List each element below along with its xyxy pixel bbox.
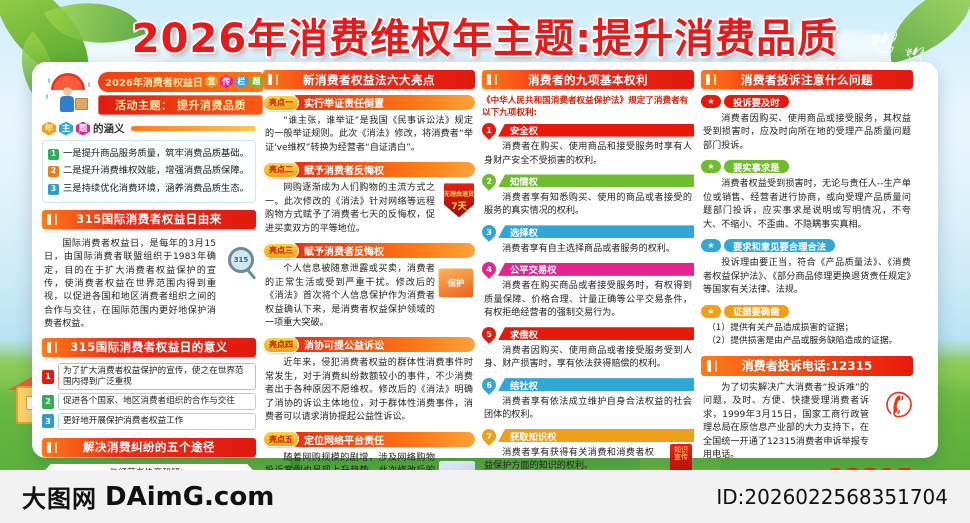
hotline-header: 消费者投诉电话:12315 bbox=[701, 356, 913, 376]
theme-meaning-heading: 年 主 题 的涵义 bbox=[42, 121, 256, 136]
highlight-badge: 亮点四 bbox=[263, 337, 299, 353]
right-heading: 4 公平交易权 bbox=[482, 262, 694, 276]
complaint-body: 消费者因购买、使用商品或接受服务，其权益受到损害时，应及时向所在地的受理产品质量… bbox=[701, 110, 913, 155]
right-heading: 6 结社权 bbox=[482, 378, 694, 392]
highlight-badge: 亮点一 bbox=[263, 95, 299, 111]
highlight-badge: 亮点五 bbox=[263, 431, 299, 447]
origin-paragraph: 国际消费者权益日，是每年的3月15日，由国际消费者联盟组织于1983年确定，目的… bbox=[42, 235, 256, 334]
umbrella-shopper-illustration bbox=[42, 70, 94, 116]
banner-prefix-text: 2026年消费者权益日 bbox=[105, 74, 203, 89]
page-title: 2026年消费维权年主题:提升消费品质 bbox=[132, 6, 838, 64]
route-item: 与经营者协商和解； bbox=[44, 463, 254, 470]
right-number: 6 bbox=[479, 375, 499, 395]
right-name: 知情权 bbox=[498, 174, 694, 187]
right-body: 消费者在购买商品或者接受服务时，有权得到质量保障、价格合理、计量正确等公平交易条… bbox=[482, 277, 694, 322]
section-header-origin: 315国际消费者权益日由来 bbox=[42, 210, 256, 229]
banner-line-two: 活动主题： 提升消费品质 bbox=[98, 95, 263, 115]
list-item: 2 促进各个国家、地区消费者组织的合作与交往 bbox=[42, 393, 256, 410]
right-number: 2 bbox=[479, 171, 499, 191]
site-brand: 大图网 DAimG.com bbox=[22, 479, 274, 514]
law-note: 《中华人民共和国消费者权益保护法》规定了消费者有以下九项权利: bbox=[482, 95, 694, 119]
list-item: 2 二是提升消费维权效能，增强消费品质保障。 bbox=[47, 163, 251, 181]
item-number: 3 bbox=[42, 414, 54, 428]
gem-icon: 题 bbox=[76, 122, 90, 136]
right-body: 消费者享有依法成立维护自身合法权益的社会团体的权利。 bbox=[482, 393, 694, 425]
right-body: 消费者享有获得有关消费和消费者权益保护方面的知识的权利。 bbox=[482, 444, 694, 471]
item-text: 三是持续优化消费环境，涵养消费品质生态。 bbox=[63, 183, 249, 196]
star-icon: ★ bbox=[701, 239, 721, 252]
gem-icon: 传 bbox=[220, 75, 233, 88]
highlight-heading: 亮点五 定位网络平台责任 bbox=[263, 432, 475, 447]
right-name: 获取知识权 bbox=[498, 429, 694, 442]
evidence-list: （1）提供有关产品造成损害的证据； （2）提供损害是由产品或服务缺陷造成的证据。 bbox=[701, 320, 913, 350]
right-name: 求偿权 bbox=[498, 327, 694, 340]
poster-canvas: 🕊 🕊 2026年消费维权年主题:提升消费品质 bbox=[0, 0, 970, 470]
item-number: 3 bbox=[48, 184, 59, 195]
meaning-list: 1 为了扩大消费者权益保护的宣传，使之在世界范围内得到广泛重视 2 促进各个国家… bbox=[42, 363, 256, 430]
highlight-heading: 亮点一 实行举证责任倒置 bbox=[263, 95, 475, 110]
complaint-heading: ★ 投诉要及时 bbox=[701, 95, 913, 108]
item-number: 2 bbox=[48, 166, 59, 177]
highlight-title: 定位网络平台责任 bbox=[290, 432, 475, 447]
complaint-title: 证据要确凿 bbox=[724, 305, 789, 318]
item-number: 2 bbox=[42, 395, 54, 409]
brand-name-cn: 大图网 bbox=[22, 479, 97, 514]
right-number: 3 bbox=[479, 222, 499, 242]
highlight-title: 实行举证责任倒置 bbox=[290, 95, 475, 110]
item-text: 更好地开展保护消费者权益工作 bbox=[58, 413, 256, 430]
item-text: 促进各个国家、地区消费者组织的合作与交往 bbox=[58, 393, 256, 410]
highlight-badge: 亮点二 bbox=[263, 162, 299, 178]
right-heading: 1 安全权 bbox=[482, 123, 694, 137]
asset-id-label: ID:2026022568351704 bbox=[716, 485, 948, 509]
right-number: 1 bbox=[479, 120, 499, 140]
section-header-meaning: 315国际消费者权益日的意义 bbox=[42, 338, 256, 357]
poster-title-area: 2026年消费维权年主题:提升消费品质 bbox=[0, 6, 970, 64]
section-header-complaints: 消费者投诉注意什么问题 bbox=[701, 70, 913, 89]
right-heading: 7 获取知识权 bbox=[482, 429, 694, 443]
right-body: 消费者在购买、使用商品和接受服务时享有人身财产安全不受损害的权利。 bbox=[482, 138, 694, 170]
item-number: 1 bbox=[48, 149, 59, 160]
complaint-title: 要求和意见要合理合法 bbox=[724, 239, 835, 252]
highlight-heading: 亮点四 消协可提公益诉讼 bbox=[263, 337, 475, 352]
brand-name-en: DAimG.com bbox=[105, 482, 274, 512]
right-number: 4 bbox=[479, 259, 499, 279]
item-text: 二是提升消费维权效能，增强消费品质保障。 bbox=[63, 165, 249, 178]
right-heading: 2 知情权 bbox=[482, 174, 694, 188]
section-header-highlights: 新消费者权益法六大亮点 bbox=[263, 70, 475, 89]
list-item: 1 一是提升商品服务质量，筑牢消费品质基础。 bbox=[47, 145, 251, 163]
right-name: 公平交易权 bbox=[498, 263, 694, 276]
highlight-title: 赋予消费者反悔权 bbox=[290, 162, 475, 177]
complaint-body: 投诉理由要正当，符合《产品质量法》、《消费者权益保护法》、《部分商品修理更换退货… bbox=[701, 254, 913, 299]
column-two: 新消费者权益法六大亮点 亮点一 实行举证责任倒置 “谁主张，谁举证”是我国《民事… bbox=[263, 70, 475, 450]
highlight-title: 消协可提公益诉讼 bbox=[290, 337, 475, 352]
right-body: 消费者因购买、使用商品或者接受服务受到人身、财产损害时，享有依法获得赔偿的权利。 bbox=[482, 342, 694, 374]
decorative-bar bbox=[131, 126, 257, 131]
complaint-title: 要实事求是 bbox=[724, 160, 789, 173]
routes-list: 与经营者协商和解； 请求消费者协会调解； 向有关行政部门申诉； 根据与经营者达成… bbox=[42, 463, 256, 470]
item-number: 1 bbox=[42, 370, 54, 384]
complaint-heading: ★ 证据要确凿 bbox=[701, 305, 913, 318]
section-header-routes: 解决消费纠纷的五个途径 bbox=[42, 438, 256, 457]
star-icon: ★ bbox=[701, 305, 721, 318]
right-name: 结社权 bbox=[498, 378, 694, 391]
star-icon: ★ bbox=[701, 95, 721, 108]
highlight-badge: 亮点三 bbox=[263, 243, 299, 259]
gem-icon: 栏 bbox=[235, 75, 248, 88]
star-icon: ★ bbox=[701, 160, 721, 173]
right-name: 安全权 bbox=[498, 124, 694, 137]
right-name: 选择权 bbox=[498, 225, 694, 238]
highlight-title: 赋予消费者反悔权 bbox=[290, 243, 475, 258]
gem-icon: 宣 bbox=[205, 75, 218, 88]
gem-icon: 题 bbox=[250, 75, 263, 88]
complaint-heading: ★ 要实事求是 bbox=[701, 160, 913, 173]
item-text: 一是提升商品服务质量，筑牢消费品质基础。 bbox=[63, 148, 249, 161]
highlight-heading: 亮点二 赋予消费者反悔权 bbox=[263, 162, 475, 177]
right-heading: 5 求偿权 bbox=[482, 327, 694, 341]
hotline-body: 为了切实解决广大消费者“投诉难”的问题，及时、方便、快捷受理消费者诉求，1999… bbox=[701, 379, 913, 465]
highlight-heading: 亮点三 赋予消费者反悔权 bbox=[263, 243, 475, 258]
list-item: 3 三是持续优化消费环境，涵养消费品质生态。 bbox=[47, 180, 251, 198]
section-header-rights: 消费者的九项基本权利 bbox=[482, 70, 694, 89]
item-text: 为了扩大消费者权益保护的宣传，使之在世界范围内得到广泛重视 bbox=[58, 363, 256, 390]
complaint-heading: ★ 要求和意见要合理合法 bbox=[701, 239, 913, 252]
right-body: 消费者享有自主选择商品或者服务的权利。 bbox=[482, 240, 694, 258]
right-number: 5 bbox=[479, 324, 499, 344]
theme-meaning-label: 的涵义 bbox=[93, 121, 125, 136]
footer-bar: 大图网 DAimG.com ID:2026022568351704 bbox=[0, 470, 970, 523]
event-banner: 2026年消费者权益日 宣 传 栏 题 活动主题： 提升消费品质 bbox=[42, 70, 256, 116]
complaint-body: 消费者权益受到损害时，无论与责任人--生产单位或销售、经营者进行协商，或向受理产… bbox=[701, 175, 913, 234]
highlight-body: 随着网购规模的剧增，涉及网络购物投诉案例也呈现上升趋势。此次修改后的《消法》对网… bbox=[263, 449, 475, 470]
highlight-body: 网购逐渐成为人们购物的主流方式之一。此次修改的《消法》针对网络等远程购物方式赋予… bbox=[263, 179, 475, 238]
theme-meaning-list: 1 一是提升商品服务质量，筑牢消费品质基础。 2 二是提升消费维权效能，增强消费… bbox=[42, 140, 256, 203]
gem-icon: 年 bbox=[42, 122, 56, 136]
complaint-title: 投诉要及时 bbox=[724, 95, 789, 108]
highlight-body: “谁主张，谁举证”是我国《民事诉讼法》规定的一般举证规则。此次《消法》修改，将消… bbox=[263, 112, 475, 157]
gem-icon: 主 bbox=[59, 122, 73, 136]
right-heading: 3 选择权 bbox=[482, 225, 694, 239]
list-item: 1 为了扩大消费者权益保护的宣传，使之在世界范围内得到广泛重视 bbox=[42, 363, 256, 390]
right-body: 消费者享有知悉购买、使用的商品或者接受的服务的真实情况的权利。 bbox=[482, 189, 694, 221]
highlight-body: 近年来，侵犯消费者权益的群体性消费事件时常发生，对于消费纠纷数额较小的事件，不少… bbox=[263, 354, 475, 426]
list-item: 3 更好地开展保护消费者权益工作 bbox=[42, 413, 256, 430]
column-four: 消费者投诉注意什么问题 ★ 投诉要及时 消费者因购买、使用商品或接受服务，其权益… bbox=[701, 70, 913, 450]
telephone-icon: ✆ bbox=[882, 387, 916, 425]
content-card: 2026年消费者权益日 宣 传 栏 题 活动主题： 提升消费品质 年 主 题 的… bbox=[32, 62, 938, 458]
right-number: 7 bbox=[479, 426, 499, 446]
column-one: 2026年消费者权益日 宣 传 栏 题 活动主题： 提升消费品质 年 主 题 的… bbox=[42, 70, 256, 450]
highlight-body: 个人信息被随意泄露或买卖，消费者的正常生活或受到严重干扰。修改后的《消法》首次将… bbox=[263, 260, 475, 332]
column-three: 消费者的九项基本权利 《中华人民共和国消费者权益保护法》规定了消费者有以下九项权… bbox=[482, 70, 694, 450]
banner-line-one: 2026年消费者权益日 宣 传 栏 题 bbox=[98, 72, 263, 92]
